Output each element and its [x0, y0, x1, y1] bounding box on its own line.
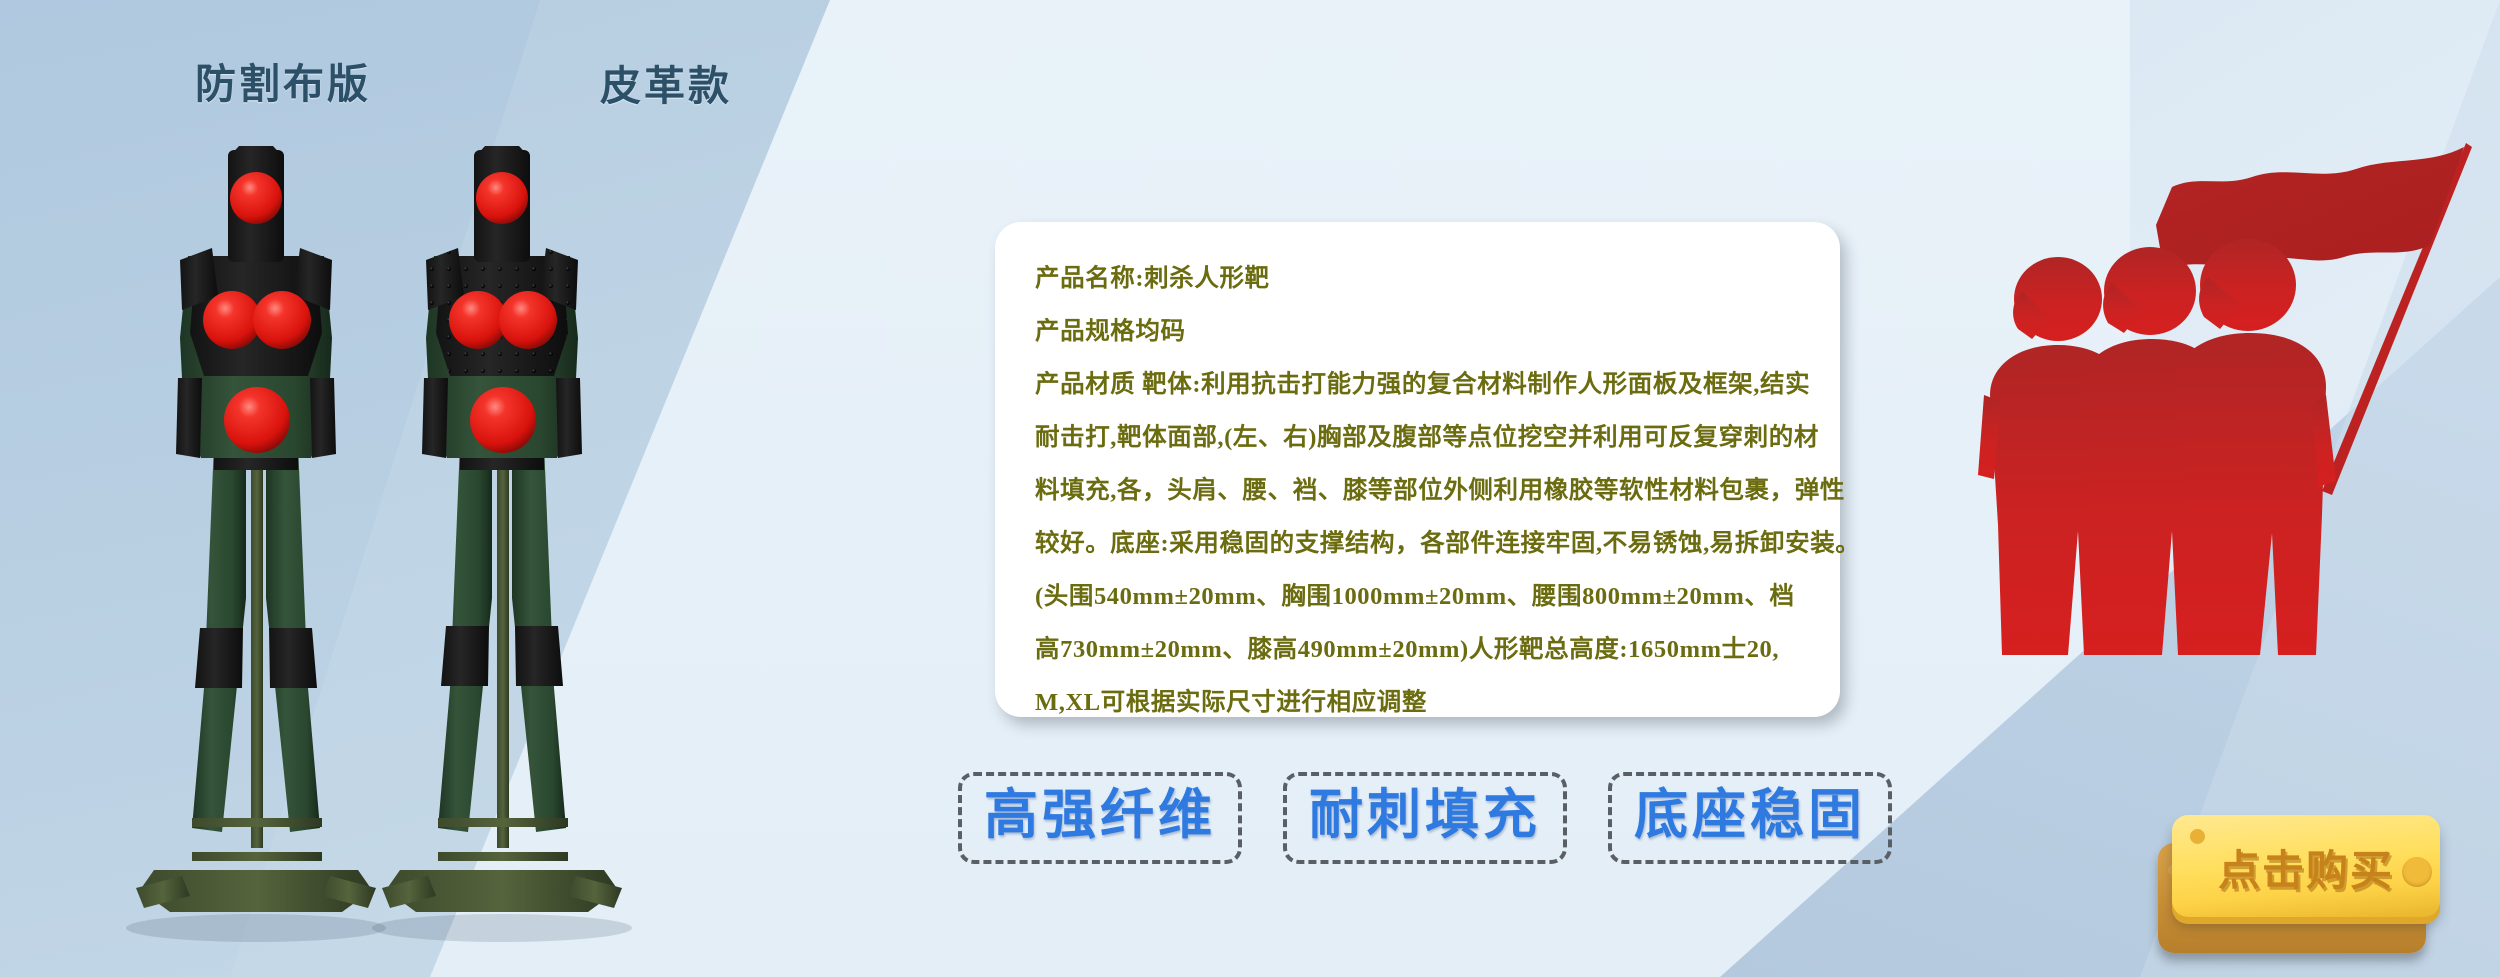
buy-button-label: 点击购买: [2172, 837, 2440, 898]
headline-char: 细: [974, 0, 1105, 129]
spec-line-base: 较好。底座:采用稳固的支撑结构，各部件连接牢固,不易锈蚀,易拆卸安装。: [1035, 517, 1800, 570]
spec-line-material-2: 耐击打,靶体面部,(左、右)胸部及腹部等点位挖空并利用可反复穿刺的材: [1035, 411, 1800, 464]
variant-label-leather: 皮革款: [600, 52, 732, 112]
variant-label-cloth: 防割布版: [195, 50, 371, 110]
spec-line-dimensions-2: 高730mm±20mm、膝高490mm±20mm)人形靶总高度:1650mm士2…: [1035, 623, 1800, 676]
spec-line-dimensions-1: (头围540mm±20mm、胸围1000mm±20mm、腰围800mm±20mm…: [1035, 570, 1800, 623]
banner-stage: 防割布版 皮革款 精细做工成就体验 产品名称:刺杀人形靶 产品规格均码 产品材质…: [0, 0, 2500, 977]
headline-char: 体: [1580, 0, 1700, 97]
headline-char: 成: [1340, 0, 1469, 108]
headline-char: 验: [1697, 0, 1808, 94]
feature-badge-base[interactable]: 底座稳固: [1608, 772, 1892, 864]
product-spec-card: 产品名称:刺杀人形靶 产品规格均码 产品材质 靶体:利用抗击打能力强的复合材料制…: [995, 222, 1840, 717]
headline-char: 工: [1219, 0, 1348, 117]
buy-button[interactable]: 点击购买: [2150, 815, 2450, 960]
spec-line-size: 产品规格均码: [1035, 305, 1800, 358]
feature-badge-group: 高强纤维 耐刺填充 底座稳固: [958, 772, 1892, 864]
soldiers-saluting-flag-illustration: [1960, 95, 2500, 655]
target-dummy-leather[interactable]: [342, 128, 662, 958]
headline-char: 精: [852, 7, 983, 138]
feature-badge-stab[interactable]: 耐刺填充: [1283, 772, 1567, 864]
spec-line-material-3: 料填充,各，头肩、腰、裆、膝等部位外侧利用橡胶等软性材料包裹，弹性: [1035, 464, 1800, 517]
spec-line-material-1: 产品材质 靶体:利用抗击打能力强的复合材料制作人形面板及框架,结实: [1035, 358, 1800, 411]
spec-line-adjust: M,XL可根据实际尺寸进行相应调整: [1035, 676, 1800, 729]
feature-badge-fiber[interactable]: 高强纤维: [958, 772, 1242, 864]
headline-char: 就: [1464, 0, 1584, 106]
spec-line-product-name: 产品名称:刺杀人形靶: [1035, 252, 1800, 305]
buy-button-face[interactable]: 点击购买: [2172, 815, 2440, 917]
headline-char: 做: [1095, 0, 1226, 121]
